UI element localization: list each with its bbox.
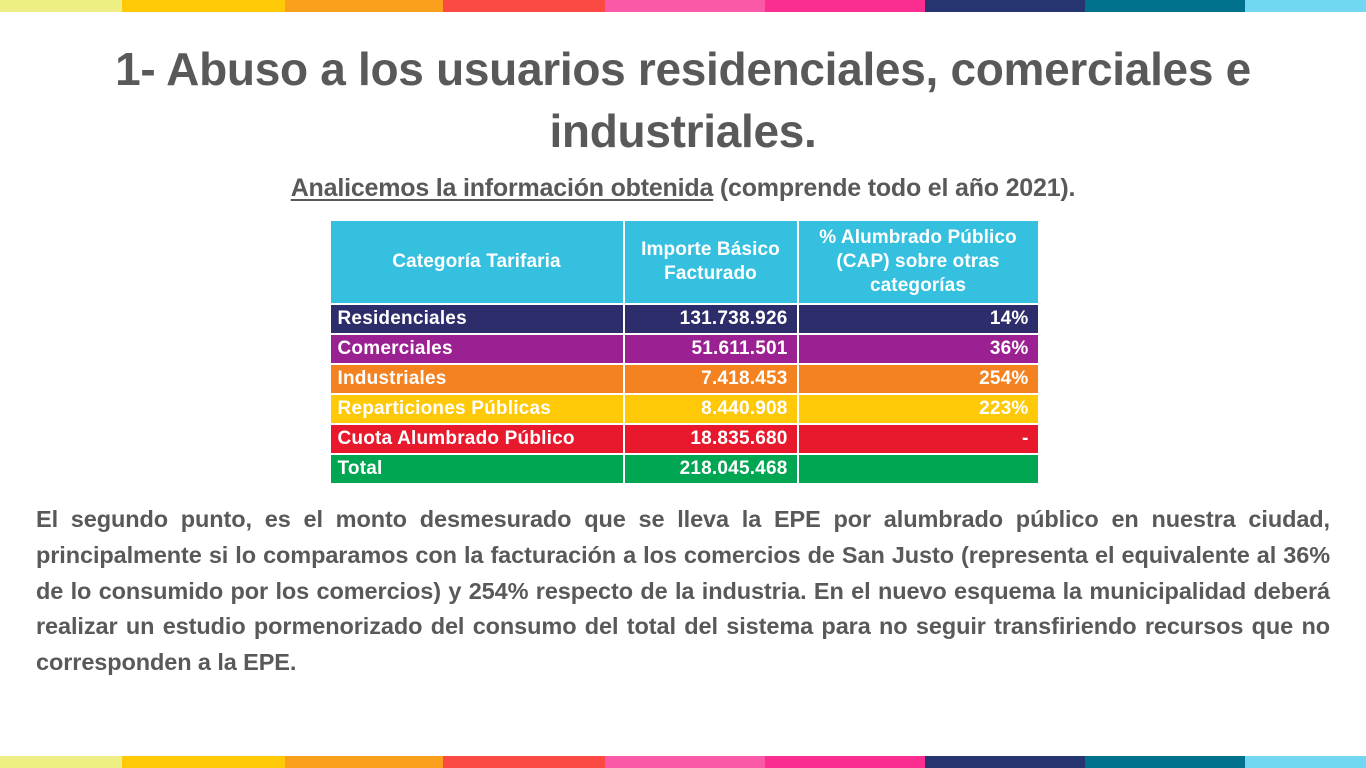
subtitle-underlined-part: Analicemos la información obtenida: [291, 174, 713, 202]
color-bar-segment: [122, 0, 285, 12]
color-bar-segment: [1085, 756, 1245, 768]
cell-percent: 254%: [799, 365, 1038, 393]
table-row: Comerciales51.611.50136%: [331, 335, 1038, 363]
cell-percent: 14%: [799, 305, 1038, 333]
color-bar-segment: [1245, 0, 1366, 12]
table-header-row: Categoría Tarifaria Importe Básico Factu…: [331, 221, 1038, 303]
color-bar-segment: [605, 0, 765, 12]
cell-category: Industriales: [331, 365, 623, 393]
table-row: Total218.045.468: [331, 455, 1038, 483]
cell-amount: 51.611.501: [625, 335, 797, 363]
subtitle-rest-part: (comprende todo el año 2021).: [713, 174, 1075, 202]
color-bar-segment: [0, 756, 122, 768]
cell-percent: [799, 455, 1038, 483]
body-paragraph: El segundo punto, es el monto desmesurad…: [36, 502, 1330, 681]
cell-category: Residenciales: [331, 305, 623, 333]
color-bar-segment: [925, 756, 1085, 768]
color-bar-segment: [122, 756, 285, 768]
cell-category: Cuota Alumbrado Público: [331, 425, 623, 453]
column-header-amount: Importe Básico Facturado: [625, 221, 797, 303]
color-bar-segment: [1085, 0, 1245, 12]
cell-category: Reparticiones Públicas: [331, 395, 623, 423]
table-body: Residenciales131.738.92614%Comerciales51…: [331, 305, 1038, 483]
color-bar-segment: [765, 756, 925, 768]
page-title: 1- Abuso a los usuarios residenciales, c…: [0, 12, 1366, 162]
table-row: Industriales7.418.453254%: [331, 365, 1038, 393]
column-header-category: Categoría Tarifaria: [331, 221, 623, 303]
cell-percent: 36%: [799, 335, 1038, 363]
color-bar-segment: [285, 756, 443, 768]
top-color-bar: [0, 0, 1366, 12]
cell-category: Comerciales: [331, 335, 623, 363]
color-bar-segment: [0, 0, 122, 12]
table-row: Reparticiones Públicas8.440.908223%: [331, 395, 1038, 423]
color-bar-segment: [605, 756, 765, 768]
table-header: Categoría Tarifaria Importe Básico Factu…: [331, 221, 1038, 303]
color-bar-segment: [443, 0, 605, 12]
color-bar-segment: [765, 0, 925, 12]
color-bar-segment: [925, 0, 1085, 12]
tariff-data-table: Categoría Tarifaria Importe Básico Factu…: [329, 219, 1040, 485]
bottom-color-bar: [0, 756, 1366, 768]
slide-content: 1- Abuso a los usuarios residenciales, c…: [0, 12, 1366, 756]
color-bar-segment: [285, 0, 443, 12]
cell-amount: 218.045.468: [625, 455, 797, 483]
cell-amount: 131.738.926: [625, 305, 797, 333]
color-bar-segment: [1245, 756, 1366, 768]
cell-amount: 18.835.680: [625, 425, 797, 453]
column-header-percent: % Alumbrado Público (CAP) sobre otras ca…: [799, 221, 1038, 303]
table-row: Cuota Alumbrado Público18.835.680-: [331, 425, 1038, 453]
cell-amount: 8.440.908: [625, 395, 797, 423]
cell-amount: 7.418.453: [625, 365, 797, 393]
cell-category: Total: [331, 455, 623, 483]
cell-percent: -: [799, 425, 1038, 453]
color-bar-segment: [443, 756, 605, 768]
table-row: Residenciales131.738.92614%: [331, 305, 1038, 333]
cell-percent: 223%: [799, 395, 1038, 423]
subtitle: Analicemos la información obtenida (comp…: [0, 174, 1366, 203]
data-table-wrapper: Categoría Tarifaria Importe Básico Factu…: [329, 219, 1038, 485]
